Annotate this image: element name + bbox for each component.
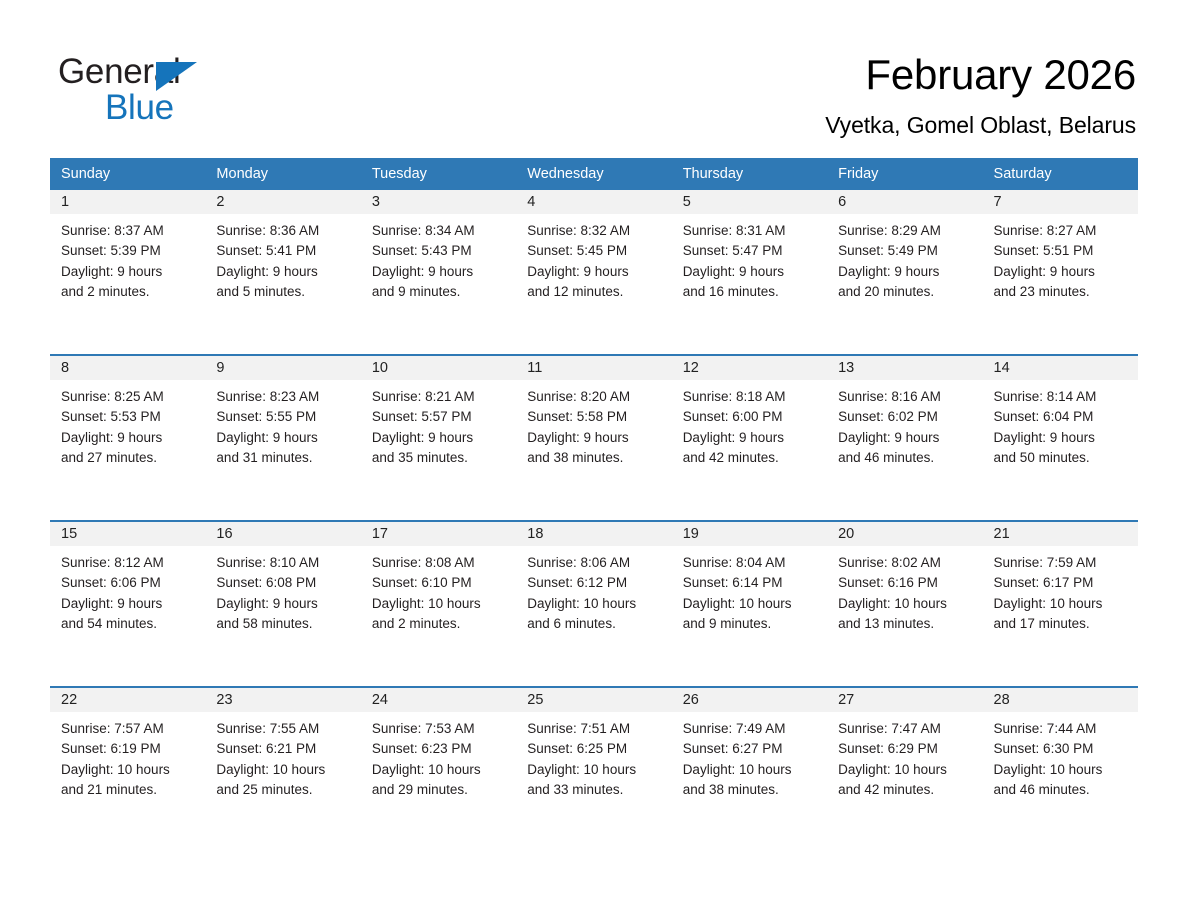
day-cell[interactable]: 27 Sunrise: 7:47 AM Sunset: 6:29 PM Dayl… bbox=[827, 687, 982, 800]
daylight-text-line2: and 2 minutes. bbox=[61, 282, 199, 302]
day-cell[interactable]: 5 Sunrise: 8:31 AM Sunset: 5:47 PM Dayli… bbox=[672, 190, 827, 355]
sunset-text: Sunset: 5:55 PM bbox=[216, 407, 354, 427]
sunset-text: Sunset: 5:47 PM bbox=[683, 241, 821, 261]
sunrise-text: Sunrise: 8:29 AM bbox=[838, 221, 976, 241]
day-number: 13 bbox=[827, 356, 982, 380]
day-number: 12 bbox=[672, 356, 827, 380]
day-details: Sunrise: 8:16 AM Sunset: 6:02 PM Dayligh… bbox=[827, 380, 982, 468]
day-cell[interactable]: 24 Sunrise: 7:53 AM Sunset: 6:23 PM Dayl… bbox=[361, 687, 516, 800]
sunrise-text: Sunrise: 8:04 AM bbox=[683, 553, 821, 573]
day-number: 14 bbox=[983, 356, 1138, 380]
daylight-text-line1: Daylight: 10 hours bbox=[216, 760, 354, 780]
daylight-text-line1: Daylight: 10 hours bbox=[683, 594, 821, 614]
sunrise-text: Sunrise: 8:20 AM bbox=[527, 387, 665, 407]
day-number: 22 bbox=[50, 688, 205, 712]
sunset-text: Sunset: 5:53 PM bbox=[61, 407, 199, 427]
daylight-text-line1: Daylight: 10 hours bbox=[527, 760, 665, 780]
day-cell[interactable]: 3 Sunrise: 8:34 AM Sunset: 5:43 PM Dayli… bbox=[361, 190, 516, 355]
sunset-text: Sunset: 5:39 PM bbox=[61, 241, 199, 261]
calendar-table: Sunday Monday Tuesday Wednesday Thursday… bbox=[50, 158, 1138, 800]
day-number: 15 bbox=[50, 522, 205, 546]
day-details: Sunrise: 8:04 AM Sunset: 6:14 PM Dayligh… bbox=[672, 546, 827, 634]
sunrise-text: Sunrise: 7:55 AM bbox=[216, 719, 354, 739]
daylight-text-line2: and 31 minutes. bbox=[216, 448, 354, 468]
daylight-text-line2: and 42 minutes. bbox=[683, 448, 821, 468]
day-details: Sunrise: 7:44 AM Sunset: 6:30 PM Dayligh… bbox=[983, 712, 1138, 800]
sunrise-text: Sunrise: 7:44 AM bbox=[994, 719, 1132, 739]
day-number: 7 bbox=[983, 190, 1138, 214]
general-blue-logo[interactable]: General Blue bbox=[58, 52, 318, 128]
day-number: 10 bbox=[361, 356, 516, 380]
day-cell[interactable]: 4 Sunrise: 8:32 AM Sunset: 5:45 PM Dayli… bbox=[516, 190, 671, 355]
day-cell[interactable]: 9 Sunrise: 8:23 AM Sunset: 5:55 PM Dayli… bbox=[205, 355, 360, 521]
day-cell[interactable]: 13 Sunrise: 8:16 AM Sunset: 6:02 PM Dayl… bbox=[827, 355, 982, 521]
sunrise-text: Sunrise: 7:49 AM bbox=[683, 719, 821, 739]
day-number: 3 bbox=[361, 190, 516, 214]
sunset-text: Sunset: 6:04 PM bbox=[994, 407, 1132, 427]
day-cell[interactable]: 19 Sunrise: 8:04 AM Sunset: 6:14 PM Dayl… bbox=[672, 521, 827, 687]
daylight-text-line1: Daylight: 9 hours bbox=[216, 262, 354, 282]
daylight-text-line1: Daylight: 10 hours bbox=[683, 760, 821, 780]
day-cell[interactable]: 26 Sunrise: 7:49 AM Sunset: 6:27 PM Dayl… bbox=[672, 687, 827, 800]
weekday-header-friday: Friday bbox=[827, 158, 982, 190]
day-number: 6 bbox=[827, 190, 982, 214]
sunset-text: Sunset: 6:00 PM bbox=[683, 407, 821, 427]
sunrise-text: Sunrise: 8:10 AM bbox=[216, 553, 354, 573]
day-cell[interactable]: 15 Sunrise: 8:12 AM Sunset: 6:06 PM Dayl… bbox=[50, 521, 205, 687]
page-subtitle: Vyetka, Gomel Oblast, Belarus bbox=[436, 108, 1136, 142]
daylight-text-line2: and 46 minutes. bbox=[994, 780, 1132, 800]
week-row: 1 Sunrise: 8:37 AM Sunset: 5:39 PM Dayli… bbox=[50, 190, 1138, 355]
day-number: 24 bbox=[361, 688, 516, 712]
daylight-text-line1: Daylight: 9 hours bbox=[683, 262, 821, 282]
sunrise-text: Sunrise: 8:08 AM bbox=[372, 553, 510, 573]
day-details: Sunrise: 8:02 AM Sunset: 6:16 PM Dayligh… bbox=[827, 546, 982, 634]
daylight-text-line2: and 35 minutes. bbox=[372, 448, 510, 468]
day-cell[interactable]: 6 Sunrise: 8:29 AM Sunset: 5:49 PM Dayli… bbox=[827, 190, 982, 355]
sunset-text: Sunset: 6:14 PM bbox=[683, 573, 821, 593]
daylight-text-line1: Daylight: 9 hours bbox=[527, 428, 665, 448]
day-details: Sunrise: 8:37 AM Sunset: 5:39 PM Dayligh… bbox=[50, 214, 205, 302]
day-number: 11 bbox=[516, 356, 671, 380]
daylight-text-line2: and 9 minutes. bbox=[372, 282, 510, 302]
daylight-text-line2: and 25 minutes. bbox=[216, 780, 354, 800]
day-number: 1 bbox=[50, 190, 205, 214]
day-details: Sunrise: 8:14 AM Sunset: 6:04 PM Dayligh… bbox=[983, 380, 1138, 468]
daylight-text-line2: and 12 minutes. bbox=[527, 282, 665, 302]
day-number: 2 bbox=[205, 190, 360, 214]
daylight-text-line2: and 23 minutes. bbox=[994, 282, 1132, 302]
day-details: Sunrise: 7:59 AM Sunset: 6:17 PM Dayligh… bbox=[983, 546, 1138, 634]
logo-triangle-icon bbox=[156, 62, 197, 91]
daylight-text-line2: and 42 minutes. bbox=[838, 780, 976, 800]
sunset-text: Sunset: 5:58 PM bbox=[527, 407, 665, 427]
sunrise-text: Sunrise: 8:37 AM bbox=[61, 221, 199, 241]
daylight-text-line2: and 17 minutes. bbox=[994, 614, 1132, 634]
day-details: Sunrise: 7:51 AM Sunset: 6:25 PM Dayligh… bbox=[516, 712, 671, 800]
page-title: February 2026 bbox=[436, 48, 1136, 102]
sunrise-text: Sunrise: 8:18 AM bbox=[683, 387, 821, 407]
daylight-text-line1: Daylight: 10 hours bbox=[372, 760, 510, 780]
daylight-text-line2: and 38 minutes. bbox=[683, 780, 821, 800]
day-cell[interactable]: 2 Sunrise: 8:36 AM Sunset: 5:41 PM Dayli… bbox=[205, 190, 360, 355]
day-details: Sunrise: 8:21 AM Sunset: 5:57 PM Dayligh… bbox=[361, 380, 516, 468]
sunrise-text: Sunrise: 8:02 AM bbox=[838, 553, 976, 573]
sunrise-text: Sunrise: 8:34 AM bbox=[372, 221, 510, 241]
sunrise-text: Sunrise: 8:06 AM bbox=[527, 553, 665, 573]
daylight-text-line2: and 5 minutes. bbox=[216, 282, 354, 302]
sunrise-text: Sunrise: 7:51 AM bbox=[527, 719, 665, 739]
sunset-text: Sunset: 6:12 PM bbox=[527, 573, 665, 593]
day-cell[interactable]: 12 Sunrise: 8:18 AM Sunset: 6:00 PM Dayl… bbox=[672, 355, 827, 521]
sunrise-text: Sunrise: 8:14 AM bbox=[994, 387, 1132, 407]
day-number: 25 bbox=[516, 688, 671, 712]
day-number: 19 bbox=[672, 522, 827, 546]
daylight-text-line1: Daylight: 9 hours bbox=[372, 262, 510, 282]
day-number: 9 bbox=[205, 356, 360, 380]
day-details: Sunrise: 8:31 AM Sunset: 5:47 PM Dayligh… bbox=[672, 214, 827, 302]
sunset-text: Sunset: 6:19 PM bbox=[61, 739, 199, 759]
sunset-text: Sunset: 5:49 PM bbox=[838, 241, 976, 261]
daylight-text-line2: and 6 minutes. bbox=[527, 614, 665, 634]
sunrise-text: Sunrise: 8:21 AM bbox=[372, 387, 510, 407]
day-details: Sunrise: 7:47 AM Sunset: 6:29 PM Dayligh… bbox=[827, 712, 982, 800]
day-number: 28 bbox=[983, 688, 1138, 712]
daylight-text-line1: Daylight: 10 hours bbox=[838, 760, 976, 780]
sunset-text: Sunset: 6:27 PM bbox=[683, 739, 821, 759]
daylight-text-line1: Daylight: 9 hours bbox=[61, 428, 199, 448]
sunrise-text: Sunrise: 8:12 AM bbox=[61, 553, 199, 573]
day-details: Sunrise: 8:23 AM Sunset: 5:55 PM Dayligh… bbox=[205, 380, 360, 468]
day-number: 27 bbox=[827, 688, 982, 712]
sunset-text: Sunset: 6:10 PM bbox=[372, 573, 510, 593]
logo-text-blue: Blue bbox=[105, 88, 174, 128]
daylight-text-line2: and 16 minutes. bbox=[683, 282, 821, 302]
day-details: Sunrise: 7:49 AM Sunset: 6:27 PM Dayligh… bbox=[672, 712, 827, 800]
daylight-text-line2: and 27 minutes. bbox=[61, 448, 199, 468]
day-details: Sunrise: 8:29 AM Sunset: 5:49 PM Dayligh… bbox=[827, 214, 982, 302]
daylight-text-line1: Daylight: 9 hours bbox=[838, 428, 976, 448]
sunset-text: Sunset: 5:45 PM bbox=[527, 241, 665, 261]
sunset-text: Sunset: 6:21 PM bbox=[216, 739, 354, 759]
weekday-header-thursday: Thursday bbox=[672, 158, 827, 190]
day-number: 23 bbox=[205, 688, 360, 712]
daylight-text-line1: Daylight: 10 hours bbox=[994, 760, 1132, 780]
day-details: Sunrise: 8:34 AM Sunset: 5:43 PM Dayligh… bbox=[361, 214, 516, 302]
daylight-text-line1: Daylight: 10 hours bbox=[527, 594, 665, 614]
sunrise-text: Sunrise: 8:16 AM bbox=[838, 387, 976, 407]
day-cell[interactable]: 21 Sunrise: 7:59 AM Sunset: 6:17 PM Dayl… bbox=[983, 521, 1138, 687]
sunset-text: Sunset: 6:16 PM bbox=[838, 573, 976, 593]
sunrise-text: Sunrise: 8:32 AM bbox=[527, 221, 665, 241]
weekday-header-monday: Monday bbox=[205, 158, 360, 190]
day-cell[interactable]: 23 Sunrise: 7:55 AM Sunset: 6:21 PM Dayl… bbox=[205, 687, 360, 800]
day-number: 5 bbox=[672, 190, 827, 214]
day-number: 20 bbox=[827, 522, 982, 546]
day-details: Sunrise: 7:53 AM Sunset: 6:23 PM Dayligh… bbox=[361, 712, 516, 800]
daylight-text-line2: and 9 minutes. bbox=[683, 614, 821, 634]
daylight-text-line1: Daylight: 9 hours bbox=[372, 428, 510, 448]
sunrise-text: Sunrise: 7:59 AM bbox=[994, 553, 1132, 573]
daylight-text-line2: and 29 minutes. bbox=[372, 780, 510, 800]
day-cell[interactable]: 10 Sunrise: 8:21 AM Sunset: 5:57 PM Dayl… bbox=[361, 355, 516, 521]
day-cell[interactable]: 25 Sunrise: 7:51 AM Sunset: 6:25 PM Dayl… bbox=[516, 687, 671, 800]
sunrise-text: Sunrise: 8:36 AM bbox=[216, 221, 354, 241]
calendar-page: General Blue February 2026 Vyetka, Gomel… bbox=[0, 0, 1188, 918]
week-row: 8 Sunrise: 8:25 AM Sunset: 5:53 PM Dayli… bbox=[50, 355, 1138, 521]
sunset-text: Sunset: 6:23 PM bbox=[372, 739, 510, 759]
day-cell[interactable]: 11 Sunrise: 8:20 AM Sunset: 5:58 PM Dayl… bbox=[516, 355, 671, 521]
page-header: General Blue February 2026 Vyetka, Gomel… bbox=[0, 0, 1188, 150]
daylight-text-line1: Daylight: 10 hours bbox=[994, 594, 1132, 614]
day-details: Sunrise: 8:25 AM Sunset: 5:53 PM Dayligh… bbox=[50, 380, 205, 468]
day-number: 17 bbox=[361, 522, 516, 546]
day-details: Sunrise: 7:55 AM Sunset: 6:21 PM Dayligh… bbox=[205, 712, 360, 800]
day-cell[interactable]: 7 Sunrise: 8:27 AM Sunset: 5:51 PM Dayli… bbox=[983, 190, 1138, 355]
sunset-text: Sunset: 5:51 PM bbox=[994, 241, 1132, 261]
sunrise-text: Sunrise: 8:31 AM bbox=[683, 221, 821, 241]
daylight-text-line2: and 54 minutes. bbox=[61, 614, 199, 634]
daylight-text-line1: Daylight: 10 hours bbox=[838, 594, 976, 614]
sunrise-text: Sunrise: 8:27 AM bbox=[994, 221, 1132, 241]
daylight-text-line1: Daylight: 10 hours bbox=[372, 594, 510, 614]
daylight-text-line2: and 2 minutes. bbox=[372, 614, 510, 634]
day-details: Sunrise: 8:32 AM Sunset: 5:45 PM Dayligh… bbox=[516, 214, 671, 302]
day-details: Sunrise: 8:06 AM Sunset: 6:12 PM Dayligh… bbox=[516, 546, 671, 634]
day-number: 21 bbox=[983, 522, 1138, 546]
daylight-text-line2: and 46 minutes. bbox=[838, 448, 976, 468]
day-details: Sunrise: 8:08 AM Sunset: 6:10 PM Dayligh… bbox=[361, 546, 516, 634]
daylight-text-line1: Daylight: 9 hours bbox=[994, 262, 1132, 282]
daylight-text-line2: and 38 minutes. bbox=[527, 448, 665, 468]
sunset-text: Sunset: 6:29 PM bbox=[838, 739, 976, 759]
sunrise-text: Sunrise: 7:57 AM bbox=[61, 719, 199, 739]
day-details: Sunrise: 8:20 AM Sunset: 5:58 PM Dayligh… bbox=[516, 380, 671, 468]
weekday-header-sunday: Sunday bbox=[50, 158, 205, 190]
day-cell[interactable]: 1 Sunrise: 8:37 AM Sunset: 5:39 PM Dayli… bbox=[50, 190, 205, 355]
day-details: Sunrise: 8:12 AM Sunset: 6:06 PM Dayligh… bbox=[50, 546, 205, 634]
daylight-text-line1: Daylight: 9 hours bbox=[216, 594, 354, 614]
sunrise-text: Sunrise: 8:25 AM bbox=[61, 387, 199, 407]
sunrise-text: Sunrise: 7:47 AM bbox=[838, 719, 976, 739]
week-row: 22 Sunrise: 7:57 AM Sunset: 6:19 PM Dayl… bbox=[50, 687, 1138, 800]
day-cell[interactable]: 18 Sunrise: 8:06 AM Sunset: 6:12 PM Dayl… bbox=[516, 521, 671, 687]
daylight-text-line1: Daylight: 9 hours bbox=[216, 428, 354, 448]
sunset-text: Sunset: 5:41 PM bbox=[216, 241, 354, 261]
weekday-header-wednesday: Wednesday bbox=[516, 158, 671, 190]
title-block: February 2026 Vyetka, Gomel Oblast, Bela… bbox=[436, 48, 1136, 142]
day-number: 18 bbox=[516, 522, 671, 546]
daylight-text-line2: and 20 minutes. bbox=[838, 282, 976, 302]
day-number: 26 bbox=[672, 688, 827, 712]
day-cell[interactable]: 28 Sunrise: 7:44 AM Sunset: 6:30 PM Dayl… bbox=[983, 687, 1138, 800]
daylight-text-line2: and 13 minutes. bbox=[838, 614, 976, 634]
sunset-text: Sunset: 6:25 PM bbox=[527, 739, 665, 759]
day-details: Sunrise: 7:57 AM Sunset: 6:19 PM Dayligh… bbox=[50, 712, 205, 800]
sunset-text: Sunset: 5:57 PM bbox=[372, 407, 510, 427]
daylight-text-line1: Daylight: 9 hours bbox=[994, 428, 1132, 448]
week-row: 15 Sunrise: 8:12 AM Sunset: 6:06 PM Dayl… bbox=[50, 521, 1138, 687]
day-cell[interactable]: 8 Sunrise: 8:25 AM Sunset: 5:53 PM Dayli… bbox=[50, 355, 205, 521]
day-cell[interactable]: 16 Sunrise: 8:10 AM Sunset: 6:08 PM Dayl… bbox=[205, 521, 360, 687]
daylight-text-line2: and 50 minutes. bbox=[994, 448, 1132, 468]
day-cell[interactable]: 17 Sunrise: 8:08 AM Sunset: 6:10 PM Dayl… bbox=[361, 521, 516, 687]
weekday-header-tuesday: Tuesday bbox=[361, 158, 516, 190]
day-number: 8 bbox=[50, 356, 205, 380]
daylight-text-line1: Daylight: 9 hours bbox=[838, 262, 976, 282]
daylight-text-line1: Daylight: 9 hours bbox=[61, 594, 199, 614]
sunset-text: Sunset: 6:02 PM bbox=[838, 407, 976, 427]
day-details: Sunrise: 8:36 AM Sunset: 5:41 PM Dayligh… bbox=[205, 214, 360, 302]
day-details: Sunrise: 8:10 AM Sunset: 6:08 PM Dayligh… bbox=[205, 546, 360, 634]
day-number: 16 bbox=[205, 522, 360, 546]
daylight-text-line1: Daylight: 10 hours bbox=[61, 760, 199, 780]
daylight-text-line1: Daylight: 9 hours bbox=[527, 262, 665, 282]
sunrise-text: Sunrise: 7:53 AM bbox=[372, 719, 510, 739]
sunset-text: Sunset: 5:43 PM bbox=[372, 241, 510, 261]
daylight-text-line1: Daylight: 9 hours bbox=[61, 262, 199, 282]
sunset-text: Sunset: 6:06 PM bbox=[61, 573, 199, 593]
day-cell[interactable]: 22 Sunrise: 7:57 AM Sunset: 6:19 PM Dayl… bbox=[50, 687, 205, 800]
day-number: 4 bbox=[516, 190, 671, 214]
sunrise-text: Sunrise: 8:23 AM bbox=[216, 387, 354, 407]
daylight-text-line2: and 33 minutes. bbox=[527, 780, 665, 800]
daylight-text-line1: Daylight: 9 hours bbox=[683, 428, 821, 448]
day-cell[interactable]: 14 Sunrise: 8:14 AM Sunset: 6:04 PM Dayl… bbox=[983, 355, 1138, 521]
sunset-text: Sunset: 6:30 PM bbox=[994, 739, 1132, 759]
day-cell[interactable]: 20 Sunrise: 8:02 AM Sunset: 6:16 PM Dayl… bbox=[827, 521, 982, 687]
sunset-text: Sunset: 6:17 PM bbox=[994, 573, 1132, 593]
weekday-header-saturday: Saturday bbox=[983, 158, 1138, 190]
day-details: Sunrise: 8:27 AM Sunset: 5:51 PM Dayligh… bbox=[983, 214, 1138, 302]
day-details: Sunrise: 8:18 AM Sunset: 6:00 PM Dayligh… bbox=[672, 380, 827, 468]
daylight-text-line2: and 58 minutes. bbox=[216, 614, 354, 634]
daylight-text-line2: and 21 minutes. bbox=[61, 780, 199, 800]
sunset-text: Sunset: 6:08 PM bbox=[216, 573, 354, 593]
weekday-header-row: Sunday Monday Tuesday Wednesday Thursday… bbox=[50, 158, 1138, 190]
